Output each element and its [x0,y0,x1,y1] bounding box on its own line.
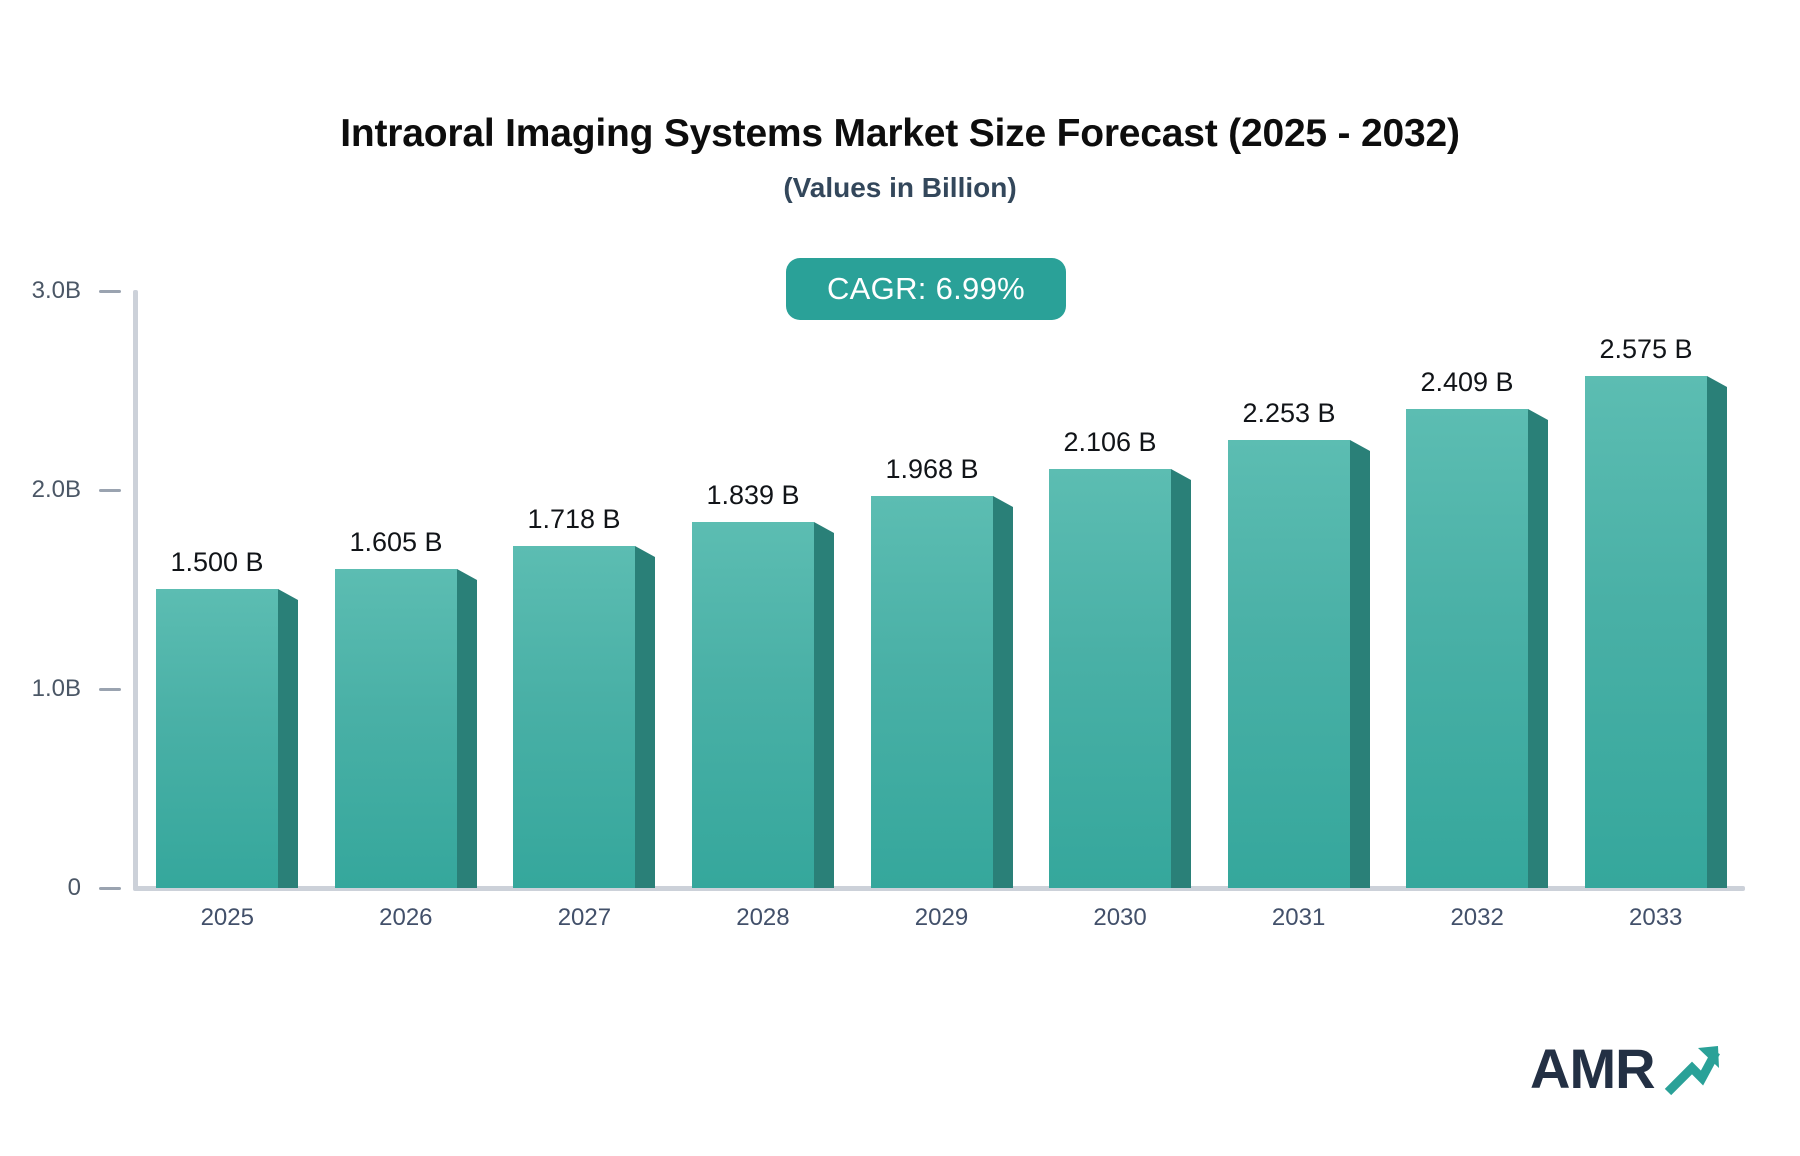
bar-value-label: 1.968 B [885,454,978,485]
bar-front-face [335,569,457,888]
bar-side-face [635,546,655,888]
bar-front-face [1585,376,1707,888]
bar[interactable]: 2.253 B [1228,440,1350,888]
bar-front-face [156,589,278,888]
bar-series: 1.500 B20251.605 B20261.718 B20271.839 B… [0,0,1800,1156]
x-axis-tick-label: 2030 [1031,904,1210,932]
bar-front-face [871,496,993,888]
bar-value-label: 2.106 B [1063,427,1156,458]
bar-front-face [1406,409,1528,888]
bar-front-face [1228,440,1350,888]
bar-side-face [1350,440,1370,888]
bar-side-face [278,589,298,888]
bar-side-face [993,496,1013,888]
bar-side-face [1707,376,1727,888]
x-axis-tick-label: 2028 [674,904,853,932]
bar-side-face [1528,409,1548,888]
bar[interactable]: 1.500 B [156,589,278,888]
growth-arrow-icon [1662,1042,1720,1100]
bar[interactable]: 2.575 B [1585,376,1707,888]
bar[interactable]: 1.968 B [871,496,993,888]
bar-front-face [1049,469,1171,888]
x-axis-tick-label: 2027 [495,904,674,932]
bar-value-label: 1.605 B [349,527,442,558]
bar-side-face [814,522,834,888]
amr-logo: AMR [1530,1038,1720,1108]
bar-front-face [692,522,814,888]
bar[interactable]: 1.718 B [513,546,635,888]
x-axis-tick-label: 2033 [1566,904,1745,932]
bar-value-label: 2.409 B [1420,367,1513,398]
bar-front-face [513,546,635,888]
amr-logo-text: AMR [1530,1038,1655,1100]
x-axis-tick-label: 2026 [317,904,496,932]
bar[interactable]: 1.605 B [335,569,457,888]
bar-side-face [457,569,477,888]
bar-side-face [1171,469,1191,888]
x-axis-tick-label: 2031 [1209,904,1388,932]
bar[interactable]: 2.106 B [1049,469,1171,888]
x-axis-tick-label: 2032 [1388,904,1567,932]
bar-value-label: 1.718 B [527,504,620,535]
bar[interactable]: 1.839 B [692,522,814,888]
bar-value-label: 1.839 B [706,480,799,511]
bar-value-label: 2.253 B [1242,398,1335,429]
x-axis-tick-label: 2029 [852,904,1031,932]
chart-canvas: Intraoral Imaging Systems Market Size Fo… [0,0,1800,1156]
bar-value-label: 2.575 B [1599,334,1692,365]
x-axis-tick-label: 2025 [138,904,317,932]
bar-value-label: 1.500 B [170,547,263,578]
bar[interactable]: 2.409 B [1406,409,1528,888]
